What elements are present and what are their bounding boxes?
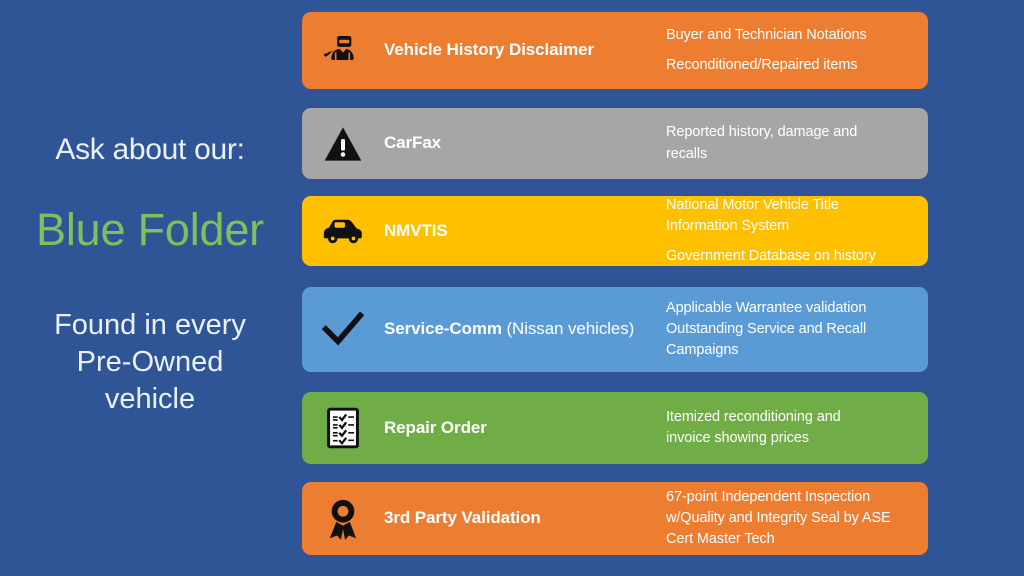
subline-0: Found in every <box>0 307 300 344</box>
row-repair-order[interactable]: Repair OrderItemized reconditioning andi… <box>302 392 928 464</box>
row-carfax[interactable]: CarFaxReported history, damage andrecall… <box>302 108 928 179</box>
warning-triangle-icon <box>302 124 384 164</box>
row-description-carfax: Reported history, damage andrecalls <box>666 122 928 164</box>
desc-line: recalls <box>666 144 928 165</box>
row-title-carfax: CarFax <box>384 133 666 153</box>
desc-line: Outstanding Service and Recall <box>666 319 928 340</box>
row-title-service-comm: Service-Comm (Nissan vehicles) <box>384 319 666 339</box>
row-title-main: NMVTIS <box>384 221 448 240</box>
feature-rows-list: Vehicle History DisclaimerBuyer and Tech… <box>302 0 928 576</box>
desc-line: Buyer and Technician Notations <box>666 25 928 46</box>
clipboard-checklist-icon <box>302 407 384 449</box>
car-icon <box>302 214 384 248</box>
desc-line: invoice showing prices <box>666 428 928 449</box>
ask-about-our-label: Ask about our: <box>0 133 300 166</box>
desc-line: w/Quality and Integrity Seal by ASE <box>666 508 928 529</box>
left-text-panel: Ask about our: Blue Folder Found in ever… <box>0 0 300 576</box>
row-description-third-party-validation: 67-point Independent Inspectionw/Quality… <box>666 487 928 550</box>
row-vehicle-history-disclaimer[interactable]: Vehicle History DisclaimerBuyer and Tech… <box>302 12 928 89</box>
desc-line: Information System <box>666 216 928 237</box>
paragraph-gap <box>666 46 928 55</box>
desc-line: Reconditioned/Repaired items <box>666 55 928 76</box>
desc-line: National Motor Vehicle Title <box>666 195 928 216</box>
row-description-vehicle-history-disclaimer: Buyer and Technician NotationsReconditio… <box>666 25 928 76</box>
desc-line: Government Database on history <box>666 246 928 267</box>
row-description-nmvtis: National Motor Vehicle TitleInformation … <box>666 195 928 267</box>
row-title-main: Vehicle History Disclaimer <box>384 40 594 59</box>
row-title-main: CarFax <box>384 133 441 152</box>
blue-folder-headline: Blue Folder <box>0 206 300 255</box>
award-ribbon-icon <box>302 497 384 541</box>
row-third-party-validation[interactable]: 3rd Party Validation67-point Independent… <box>302 482 928 555</box>
check-mark-icon <box>302 310 384 350</box>
found-in-every-preowned-vehicle-text: Found in everyPre-Ownedvehicle <box>0 307 300 418</box>
paragraph-gap <box>666 237 928 246</box>
slide-canvas: Ask about our: Blue Folder Found in ever… <box>0 0 1024 576</box>
row-service-comm[interactable]: Service-Comm (Nissan vehicles)Applicable… <box>302 287 928 372</box>
row-title-main: 3rd Party Validation <box>384 508 541 527</box>
row-title-vehicle-history-disclaimer: Vehicle History Disclaimer <box>384 40 666 60</box>
welder-technician-icon <box>302 31 384 71</box>
subline-2: vehicle <box>0 381 300 418</box>
row-title-main: Service-Comm <box>384 319 502 338</box>
desc-line: Applicable Warrantee validation <box>666 298 928 319</box>
row-description-repair-order: Itemized reconditioning andinvoice showi… <box>666 407 928 449</box>
desc-line: Itemized reconditioning and <box>666 407 928 428</box>
row-title-nmvtis: NMVTIS <box>384 221 666 241</box>
row-title-main: Repair Order <box>384 418 487 437</box>
row-title-third-party-validation: 3rd Party Validation <box>384 508 666 528</box>
desc-line: Campaigns <box>666 340 928 361</box>
desc-line: 67-point Independent Inspection <box>666 487 928 508</box>
row-title-suffix: (Nissan vehicles) <box>502 319 634 338</box>
subline-1: Pre-Owned <box>0 344 300 381</box>
desc-line: Reported history, damage and <box>666 122 928 143</box>
row-title-repair-order: Repair Order <box>384 418 666 438</box>
desc-line: Cert Master Tech <box>666 529 928 550</box>
row-nmvtis[interactable]: NMVTISNational Motor Vehicle TitleInform… <box>302 196 928 266</box>
row-description-service-comm: Applicable Warrantee validationOutstandi… <box>666 298 928 361</box>
